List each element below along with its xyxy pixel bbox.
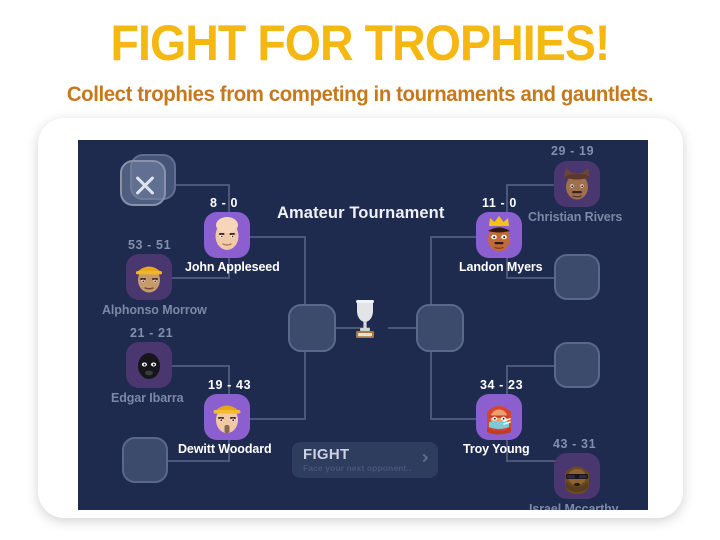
fight-button[interactable]: FIGHT Face your next opponent.. xyxy=(292,442,438,478)
close-x-icon xyxy=(122,162,168,208)
score-christian-rivers: 29 - 19 xyxy=(551,144,594,158)
promo-screenshot: FIGHT FOR TROPHIES! Collect trophies fro… xyxy=(0,0,720,540)
player-name-landon-myers: Landon Myers xyxy=(459,260,543,274)
player-name-christian-rivers: Christian Rivers xyxy=(528,210,622,224)
face-mask-icon xyxy=(489,421,509,429)
tournament-title: Amateur Tournament xyxy=(277,204,444,223)
player-name-edgar-ibarra: Edgar Ibarra xyxy=(111,391,183,405)
score-john-appleseed: 8 - 0 xyxy=(210,196,238,210)
connector xyxy=(246,236,306,238)
score-troy-young: 34 - 23 xyxy=(480,378,523,392)
connector xyxy=(246,418,306,420)
avatar-face-john-appleseed xyxy=(204,212,250,258)
avatar-face-israel-mccarthy xyxy=(554,453,600,499)
empty-slot-bottom-right[interactable] xyxy=(554,342,600,388)
avatar-troy-young[interactable] xyxy=(476,394,522,440)
score-dewitt-woodard: 19 - 43 xyxy=(208,378,251,392)
avatar-dewitt-woodard[interactable] xyxy=(204,394,250,440)
avatar-edgar-ibarra[interactable] xyxy=(126,342,172,388)
empty-slot-semifinal-right[interactable] xyxy=(416,304,464,352)
avatar-face-dewitt-woodard xyxy=(204,394,250,440)
avatar-john-appleseed[interactable] xyxy=(204,212,250,258)
connector xyxy=(168,365,230,367)
fight-button-label: FIGHT xyxy=(303,446,350,463)
slot-front-plate xyxy=(120,160,166,206)
connector xyxy=(168,184,230,186)
avatar-face-landon-myers xyxy=(476,212,522,258)
avatar-face-troy-young xyxy=(476,394,522,440)
empty-slot-bottom-left[interactable] xyxy=(122,437,168,483)
player-name-dewitt-woodard: Dewitt Woodard xyxy=(178,442,272,456)
score-alphonso-morrow: 53 - 51 xyxy=(128,238,171,252)
avatar-alphonso-morrow[interactable] xyxy=(126,254,172,300)
player-name-israel-mccarthy: Israel Mccarthy xyxy=(529,502,619,510)
connector xyxy=(168,460,230,462)
avatar-face-christian-rivers xyxy=(554,161,600,207)
page-title: FIGHT FOR TROPHIES! xyxy=(25,16,695,70)
connector xyxy=(168,277,230,279)
score-israel-mccarthy: 43 - 31 xyxy=(553,437,596,451)
empty-slot-semifinal-left[interactable] xyxy=(288,304,336,352)
trophy-icon xyxy=(349,296,381,346)
score-landon-myers: 11 - 0 xyxy=(482,196,517,210)
player-name-troy-young: Troy Young xyxy=(463,442,530,456)
avatar-israel-mccarthy[interactable] xyxy=(554,453,600,499)
avatar-christian-rivers[interactable] xyxy=(554,161,600,207)
empty-slot-top-left[interactable] xyxy=(122,162,168,208)
avatar-face-alphonso-morrow xyxy=(126,254,172,300)
avatar-landon-myers[interactable] xyxy=(476,212,522,258)
chevron-right-icon xyxy=(420,454,428,462)
player-name-alphonso-morrow: Alphonso Morrow xyxy=(102,303,207,317)
player-name-john-appleseed: John Appleseed xyxy=(185,260,280,274)
page-subtitle: Collect trophies from competing in tourn… xyxy=(11,82,709,108)
avatar-face-edgar-ibarra xyxy=(126,342,172,388)
crown-icon xyxy=(489,216,509,226)
fight-button-sublabel: Face your next opponent.. xyxy=(303,463,411,473)
score-edgar-ibarra: 21 - 21 xyxy=(130,326,173,340)
empty-slot-top-right[interactable] xyxy=(554,254,600,300)
